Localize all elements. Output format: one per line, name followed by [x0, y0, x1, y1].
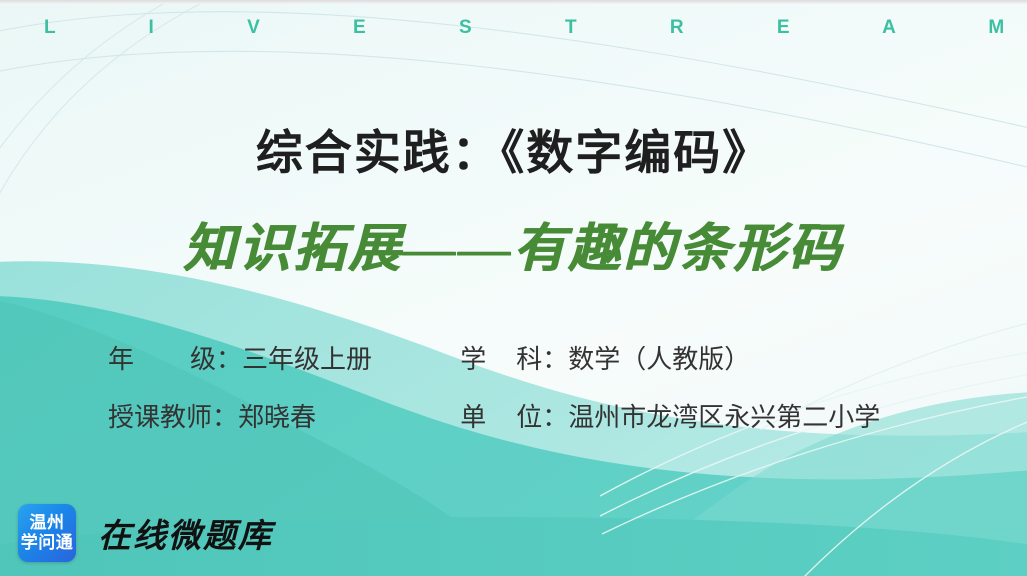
meta-subject-value: 数学（人教版）: [568, 344, 750, 374]
meta-teacher-separator: ：: [212, 402, 238, 432]
brand-wordmark: 在线微题库: [98, 509, 273, 557]
meta-teacher: 授课教师：郑晓春: [108, 388, 453, 446]
background-decoration: [0, 0, 1027, 576]
meta-teacher-label: 授课教师: [108, 402, 212, 432]
meta-subject-label: 学: [460, 344, 486, 374]
logo-line-2: 学问通: [21, 533, 74, 553]
lesson-meta: 年级：三年级上册 学科：数学（人教版） 授课教师：郑晓春 单位：温州市龙湾区永兴…: [108, 330, 988, 446]
meta-school: 单位：温州市龙湾区永兴第二小学: [460, 388, 980, 446]
meta-subject-separator: 科：: [516, 344, 568, 374]
meta-school-value: 温州市龙湾区永兴第二小学: [568, 402, 880, 432]
meta-grade: 年级：三年级上册: [108, 330, 453, 388]
meta-grade-value: 三年级上册: [242, 344, 372, 374]
meta-subject: 学科：数学（人教版）: [460, 330, 980, 388]
page-subtitle: 知识拓展——有趣的条形码: [0, 206, 1027, 281]
meta-school-separator: 位：: [516, 402, 568, 432]
top-frame-rule: [0, 0, 1027, 4]
page-title: 综合实践：《数字编码》: [0, 114, 1027, 183]
meta-teacher-value: 郑晓春: [238, 402, 316, 432]
title-slide: L I V E S T R E A M I N G 综合实践：《数字编码》 知识…: [0, 0, 1027, 576]
brand-lockup[interactable]: 温州 学问通 在线微题库: [18, 504, 273, 562]
meta-row: 授课教师：郑晓春 单位：温州市龙湾区永兴第二小学: [108, 388, 988, 446]
logo-line-1: 温州: [30, 513, 65, 533]
live-streaming-kicker: L I V E S T R E A M I N G: [0, 17, 1027, 39]
wenzhou-xuewentong-logo[interactable]: 温州 学问通: [18, 504, 76, 562]
meta-row: 年级：三年级上册 学科：数学（人教版）: [108, 330, 988, 388]
meta-grade-separator: 级：: [190, 344, 242, 374]
meta-school-label: 单: [460, 402, 486, 432]
meta-grade-label: 年: [108, 344, 134, 374]
